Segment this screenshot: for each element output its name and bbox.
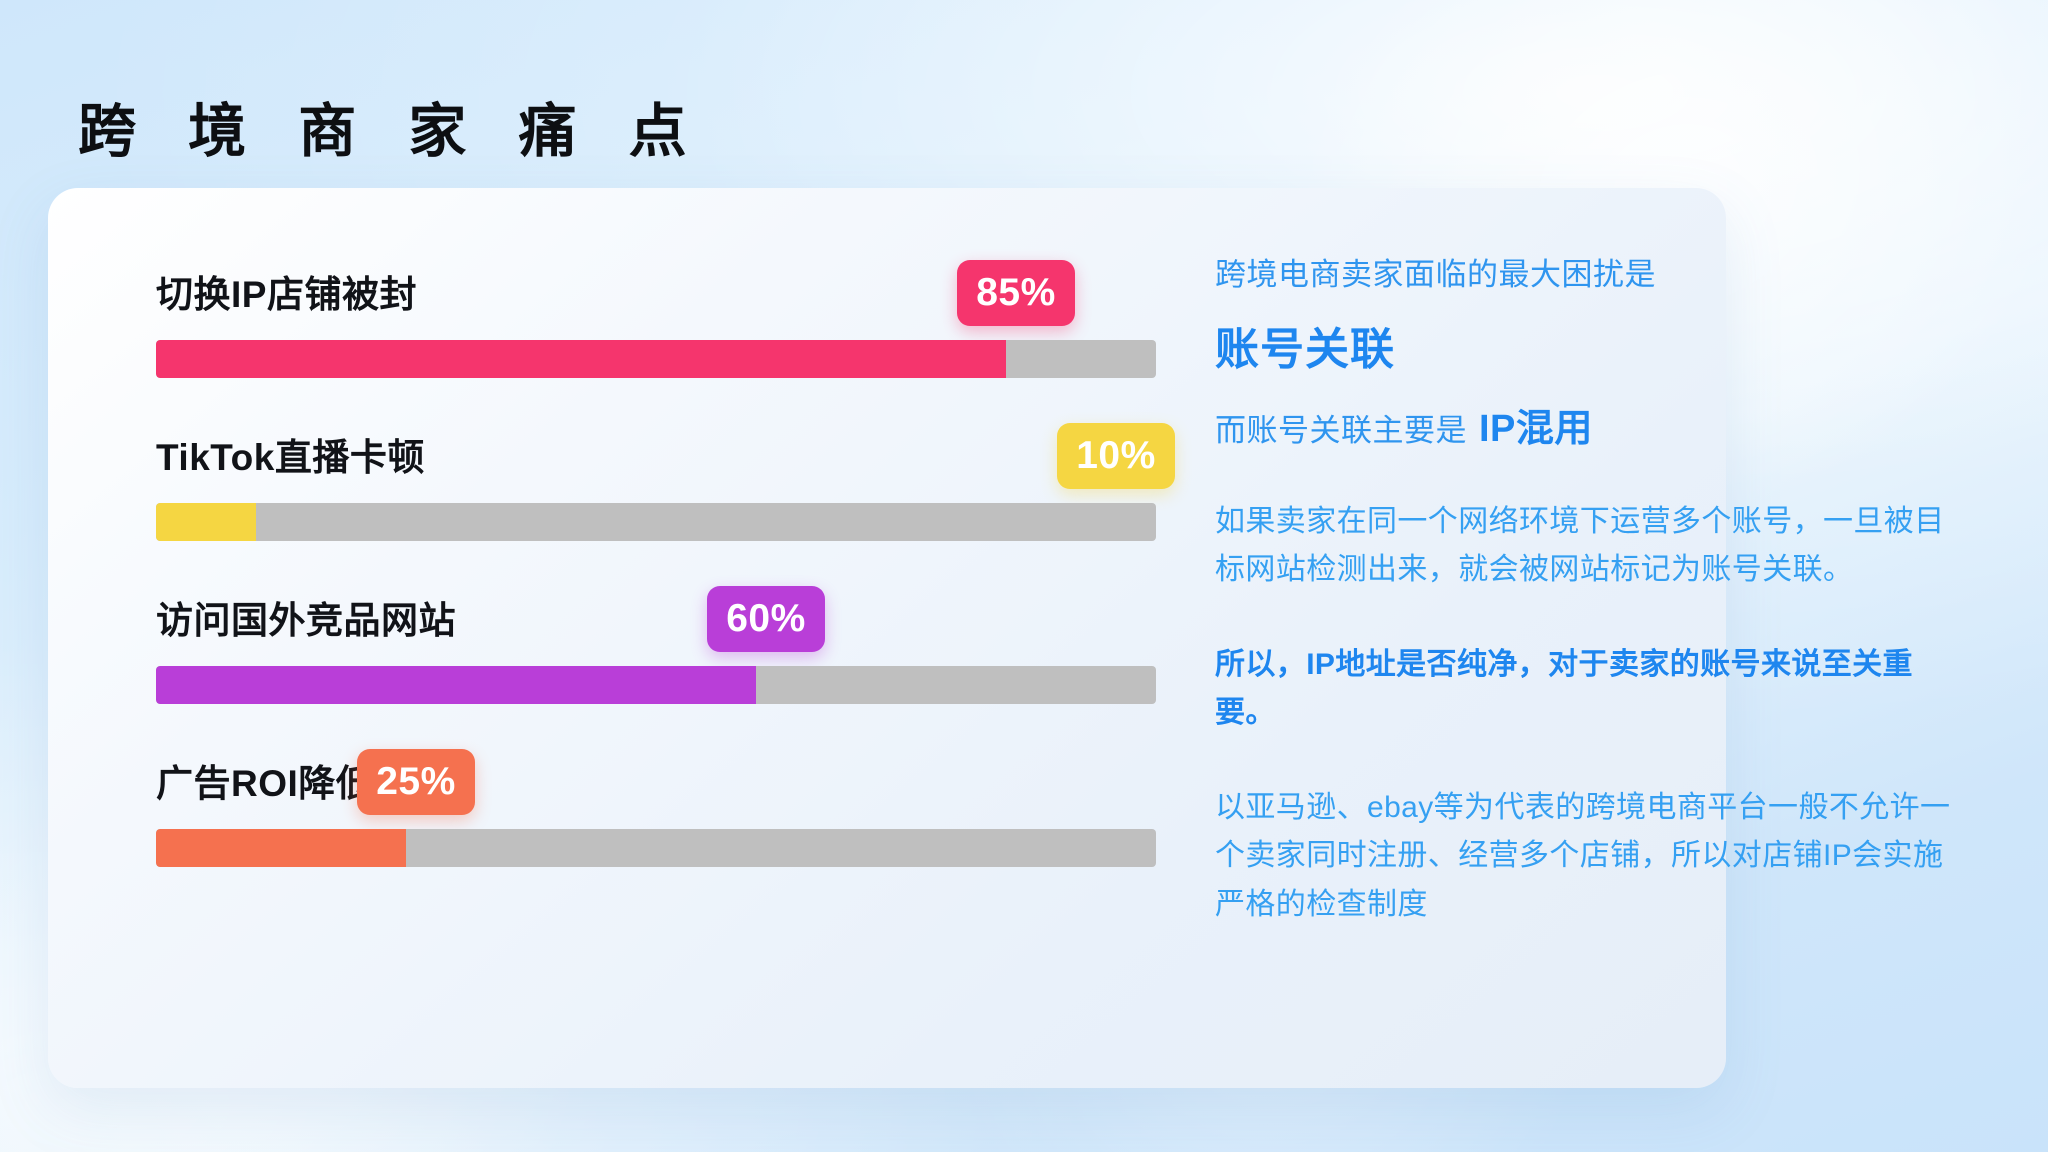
bar-header: 广告ROI降低 25% [108,725,1168,821]
copy-paragraph-1: 如果卖家在同一个网络环境下运营多个账号，一旦被目标网站检测出来，就会被网站标记为… [1215,498,1955,595]
bar-fill [156,666,756,704]
bar-track [156,666,1156,704]
copy-lead-text: 跨境电商卖家面临的最大困扰是 [1215,252,1955,299]
bar-label: 广告ROI降低 [156,753,373,807]
bar-value-badge: 25% [357,749,475,815]
bar-row: 访问国外竞品网站 60% [108,562,1168,725]
copy-subline: 而账号关联主要是IP混用 [1215,397,1955,452]
bar-value-badge: 10% [1057,423,1175,489]
copy-subline-prefix: 而账号关联主要是 [1215,413,1467,448]
pain-point-bar-chart: 切换IP店铺被封 85% TikTok直播卡顿 10% [108,236,1168,888]
explanation-column: 跨境电商卖家面临的最大困扰是 账号关联 而账号关联主要是IP混用 如果卖家在同一… [1215,252,1955,930]
bar-row: 广告ROI降低 25% [108,725,1168,888]
bar-row: 切换IP店铺被封 85% [108,236,1168,399]
bar-header: 访问国外竞品网站 60% [108,562,1168,658]
copy-hero-text: 账号关联 [1215,313,1955,377]
bar-track [156,340,1156,378]
bar-track [156,503,1156,541]
bar-track [156,829,1156,867]
bar-fill [156,829,406,867]
bar-fill [156,340,1006,378]
bar-label: 切换IP店铺被封 [156,264,417,318]
bar-header: TikTok直播卡顿 10% [108,399,1168,495]
bar-value-badge: 60% [707,586,825,652]
copy-subline-highlight: IP混用 [1479,408,1593,450]
page-title: 跨 境 商 家 痛 点 [78,99,705,166]
copy-paragraph-3: 以亚马逊、ebay等为代表的跨境电商平台一般不允许一个卖家同时注册、经营多个店铺… [1215,784,1955,930]
copy-paragraph-2: 所以，IP地址是否纯净，对于卖家的账号来说至关重要。 [1215,641,1955,738]
bar-fill [156,503,256,541]
bar-label: TikTok直播卡顿 [156,427,425,481]
bar-header: 切换IP店铺被封 85% [108,236,1168,332]
bar-label: 访问国外竞品网站 [156,590,456,644]
bar-value-badge: 85% [957,260,1075,326]
bar-row: TikTok直播卡顿 10% [108,399,1168,562]
slide-stage: 跨 境 商 家 痛 点 切换IP店铺被封 85% TikTok直播卡顿 10% [0,0,2048,1152]
